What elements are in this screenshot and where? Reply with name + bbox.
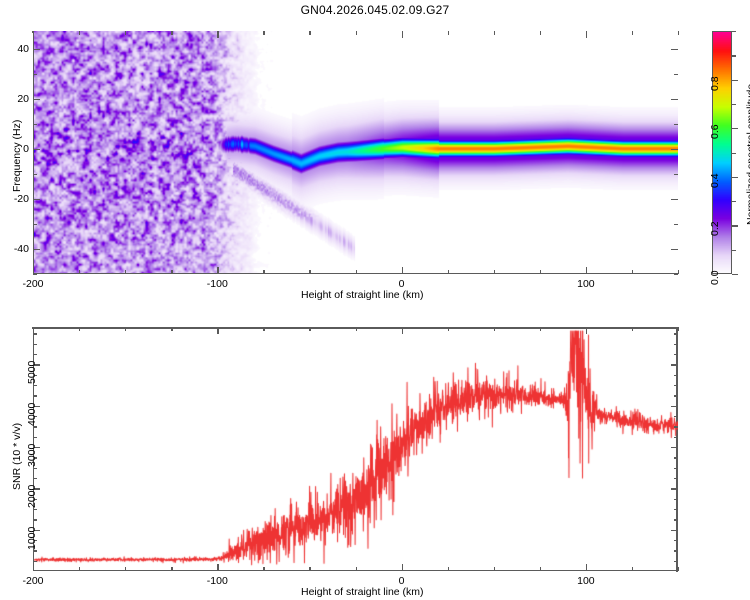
xaxis-tick [632,270,633,274]
yaxis-tick-right [671,99,678,100]
xaxis-tick-top [448,31,449,35]
yaxis-tick-right [674,375,678,376]
xaxis-tick [79,270,80,274]
xaxis-tick-top [125,327,126,331]
colorbar-gradient [712,31,732,274]
xaxis-tick-top [540,327,541,331]
xaxis-tick-top [171,327,172,331]
yaxis-tick [33,468,37,469]
xaxis-tick-label: -100 [201,575,233,587]
spectrogram-xaxis-label: Height of straight line (km) [301,289,424,301]
yaxis-tick [33,99,40,100]
yaxis-tick-right [671,530,678,531]
xaxis-tick-top [586,31,587,38]
xaxis-tick [125,567,126,571]
yaxis-tick [33,354,37,355]
yaxis-tick-right [671,149,678,150]
yaxis-tick-right [674,385,678,386]
xaxis-tick-top [586,327,587,334]
yaxis-tick [33,385,37,386]
xaxis-tick-top [309,31,310,35]
colorbar-tick [732,55,736,56]
xaxis-tick-label: -200 [17,575,49,587]
colorbar-tick [732,104,736,105]
xaxis-tick [678,270,679,274]
xaxis-tick [356,270,357,274]
xaxis-tick [309,567,310,571]
xaxis-tick [540,567,541,571]
xaxis-tick-top [263,31,264,35]
snr-axes [33,327,678,571]
xaxis-tick-top [217,327,218,334]
yaxis-tick-right [671,49,678,50]
colorbar-tick [732,274,738,275]
yaxis-tick-right [674,416,678,417]
xaxis-tick [494,270,495,274]
yaxis-tick-right [674,509,678,510]
xaxis-tick [356,567,357,571]
xaxis-tick-top [79,327,80,331]
yaxis-tick [33,274,37,275]
yaxis-tick-right [674,395,678,396]
yaxis-tick [33,149,40,150]
colorbar-tick [732,177,738,178]
spectrogram-yaxis-label: Frequency (Hz) [11,120,23,192]
xaxis-tick-top [448,327,449,331]
yaxis-tick [33,437,37,438]
xaxis-tick-top [494,31,495,35]
yaxis-tick-right [671,488,678,489]
spectrogram-canvas [34,31,678,273]
xaxis-tick-top [494,327,495,331]
yaxis-tick [33,224,37,225]
yaxis-tick [33,426,37,427]
xaxis-tick-label: 100 [570,575,602,587]
page-title: GN04.2026.045.02.09.G27 [0,3,750,17]
colorbar-tick-label: 0.2 [709,222,721,237]
yaxis-tick-label: -20 [0,193,29,205]
colorbar-canvas [713,32,732,274]
xaxis-tick-label: 100 [570,278,602,290]
yaxis-tick-right [674,224,678,225]
yaxis-tick [33,509,37,510]
snr-xaxis-label: Height of straight line (km) [301,586,424,598]
xaxis-tick-top [678,327,679,331]
xaxis-tick-top [402,327,403,334]
xaxis-tick-top [309,327,310,331]
xaxis-tick-label: -200 [17,278,49,290]
yaxis-tick [33,550,37,551]
xaxis-tick-top [356,327,357,331]
xaxis-tick [494,567,495,571]
yaxis-tick [33,249,40,250]
xaxis-tick-top [33,31,34,38]
yaxis-tick-right [674,540,678,541]
yaxis-tick-right [674,344,678,345]
yaxis-tick [33,333,37,334]
colorbar-tick-label: 0.4 [709,173,721,188]
colorbar-tick [732,31,736,32]
xaxis-tick-top [402,31,403,38]
xaxis-tick [217,267,218,274]
yaxis-tick [33,344,37,345]
xaxis-tick [402,564,403,571]
colorbar-tick [732,80,738,81]
xaxis-tick [448,270,449,274]
yaxis-tick-right [674,457,678,458]
xaxis-tick [263,567,264,571]
yaxis-tick [33,519,37,520]
xaxis-tick-top [356,31,357,35]
yaxis-tick-right [674,550,678,551]
xaxis-tick [632,567,633,571]
yaxis-tick-right [674,426,678,427]
yaxis-tick-right [671,199,678,200]
colorbar-tick-label: 0.0 [709,270,721,285]
yaxis-tick-right [674,274,678,275]
colorbar-tick [732,153,736,154]
xaxis-tick [33,267,34,274]
xaxis-tick [448,567,449,571]
xaxis-tick [402,267,403,274]
yaxis-tick-right [674,561,678,562]
xaxis-tick [586,267,587,274]
xaxis-tick-top [125,31,126,35]
yaxis-tick-right [671,406,678,407]
yaxis-tick-right [674,478,678,479]
xaxis-tick-top [171,31,172,35]
figure-canvas: GN04.2026.045.02.09.G27 -200-10001004020… [0,0,750,600]
xaxis-tick [309,270,310,274]
yaxis-tick [33,478,37,479]
yaxis-tick-right [674,174,678,175]
snr-canvas [34,327,678,570]
xaxis-tick [171,270,172,274]
yaxis-tick-right [674,519,678,520]
snr-yaxis-label: SNR (10 * v/v) [11,423,23,490]
xaxis-tick [586,564,587,571]
yaxis-tick [33,561,37,562]
yaxis-tick-right [674,74,678,75]
xaxis-tick-top [678,31,679,35]
yaxis-tick [33,124,37,125]
yaxis-tick [33,49,40,50]
yaxis-tick-right [674,124,678,125]
xaxis-tick-top [263,327,264,331]
spectrogram-axes [33,31,678,274]
colorbar-label: Normalized spectral amplitude [745,84,750,225]
xaxis-tick-top [79,31,80,35]
yaxis-tick-right [671,364,678,365]
yaxis-tick-right [674,468,678,469]
xaxis-tick-top [632,31,633,35]
colorbar-tick [732,128,738,129]
colorbar-tick [732,250,736,251]
colorbar-tick-label: 0.8 [709,76,721,91]
yaxis-tick-label: 40 [0,43,29,55]
xaxis-tick-top [632,327,633,331]
yaxis-tick-right [671,447,678,448]
xaxis-tick [79,567,80,571]
xaxis-tick-top [217,31,218,38]
spectrogram-image [34,31,678,273]
yaxis-tick-label: 20 [0,93,29,105]
xaxis-tick [678,567,679,571]
yaxis-tick [33,74,37,75]
yaxis-tick-right [674,354,678,355]
colorbar-tick [732,201,736,202]
yaxis-tick [33,199,40,200]
yaxis-tick [33,395,37,396]
xaxis-tick [540,270,541,274]
xaxis-tick [263,270,264,274]
colorbar-tick-label: 0.6 [709,125,721,140]
yaxis-tick [33,174,37,175]
yaxis-tick-right [674,437,678,438]
yaxis-tick-label: -40 [0,243,29,255]
xaxis-tick [125,270,126,274]
colorbar-tick [732,225,738,226]
xaxis-tick [217,564,218,571]
xaxis-tick-top [540,31,541,35]
xaxis-tick [33,564,34,571]
yaxis-tick-right [674,499,678,500]
xaxis-tick [171,567,172,571]
yaxis-tick-right [671,249,678,250]
snr-trace [34,327,678,570]
xaxis-tick-label: -100 [201,278,233,290]
yaxis-tick-right [674,333,678,334]
